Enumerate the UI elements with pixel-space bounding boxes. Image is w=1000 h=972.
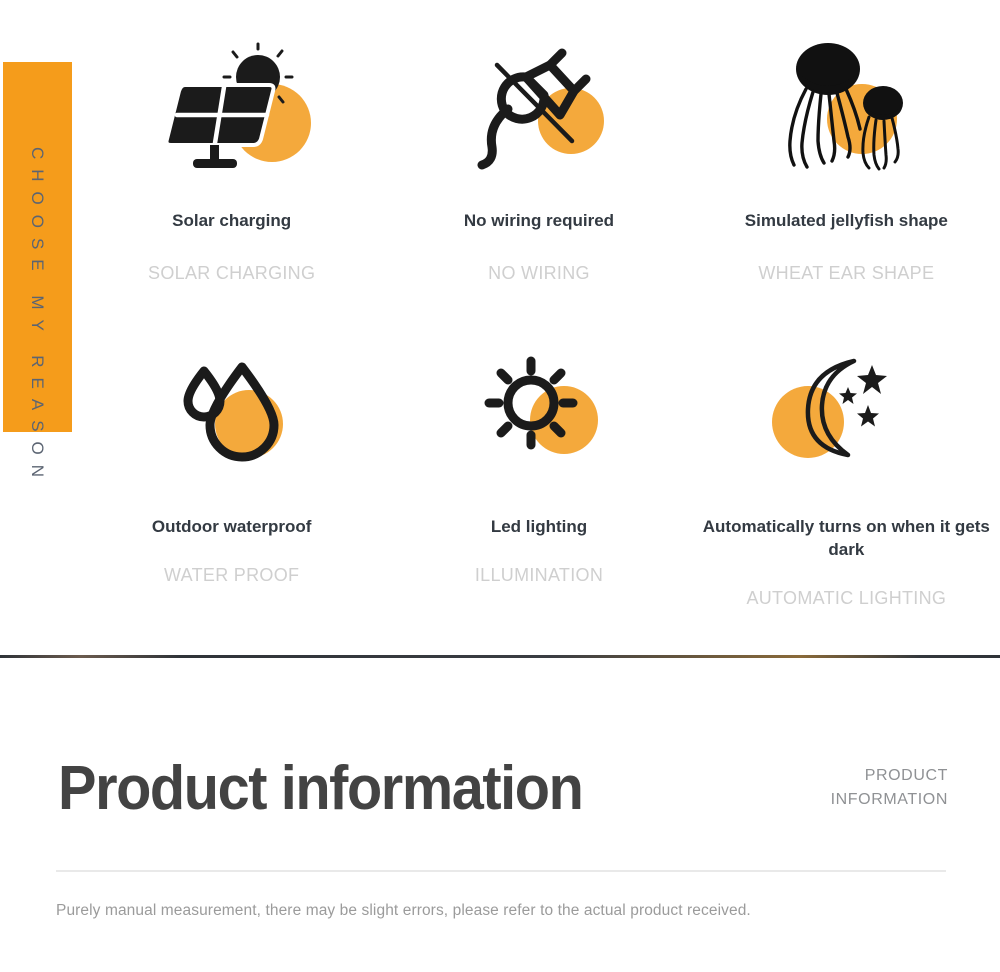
feature-title: Led lighting: [491, 516, 587, 539]
feature-title: Automatically turns on when it gets dark: [701, 516, 991, 562]
feature-icon-container: [454, 332, 624, 492]
product-information-heading-row: Product information PRODUCT INFORMATION: [58, 758, 948, 820]
features-section: CHOOSE MY REASON: [0, 0, 1000, 655]
brand-accent-bar: [3, 62, 72, 432]
feature-subtitle: SOLAR CHARGING: [148, 263, 315, 284]
feature-title: Outdoor waterproof: [152, 516, 312, 539]
feature-subtitle: NO WIRING: [488, 263, 590, 284]
feature-card-solar-charging: Solar charging SOLAR CHARGING: [78, 24, 385, 324]
feature-icon-container: [761, 32, 931, 192]
feature-subtitle: ILLUMINATION: [475, 565, 603, 586]
product-information-eyebrow: PRODUCT INFORMATION: [831, 764, 948, 820]
feature-card-automatic-lighting: Automatically turns on when it gets dark…: [693, 324, 1000, 624]
measurement-disclaimer: Purely manual measurement, there may be …: [56, 902, 751, 920]
feature-icon-container: [454, 32, 624, 192]
feature-icon-container: [761, 332, 931, 492]
feature-subtitle: WATER PROOF: [164, 565, 299, 586]
feature-grid: Solar charging SOLAR CHARGING: [78, 24, 1000, 624]
feature-subtitle: AUTOMATIC LIGHTING: [746, 588, 946, 609]
sun-icon: [469, 347, 609, 477]
product-information-section: Product information PRODUCT INFORMATION …: [0, 658, 1000, 972]
feature-icon-container: [147, 332, 317, 492]
feature-card-outdoor-waterproof: Outdoor waterproof WATER PROOF: [78, 324, 385, 624]
feature-card-led-lighting: Led lighting ILLUMINATION: [385, 324, 692, 624]
eyebrow-line-2: INFORMATION: [831, 788, 948, 812]
eyebrow-line-1: PRODUCT: [831, 764, 948, 788]
feature-title: No wiring required: [464, 210, 614, 233]
feature-card-jellyfish-shape: Simulated jellyfish shape WHEAT EAR SHAP…: [693, 24, 1000, 324]
horizontal-rule: [56, 870, 946, 872]
feature-subtitle: WHEAT EAR SHAPE: [758, 263, 934, 284]
solar-panel-icon: [157, 47, 307, 177]
water-drop-icon: [162, 347, 302, 477]
jellyfish-icon: [766, 37, 926, 187]
feature-card-no-wiring: No wiring required NO WIRING: [385, 24, 692, 324]
feature-title: Simulated jellyfish shape: [745, 210, 948, 233]
no-wiring-plug-icon: [464, 47, 614, 177]
page-title: Product information: [58, 758, 582, 820]
feature-title: Solar charging: [172, 210, 291, 233]
feature-icon-container: [147, 32, 317, 192]
moon-stars-icon: [776, 347, 916, 477]
